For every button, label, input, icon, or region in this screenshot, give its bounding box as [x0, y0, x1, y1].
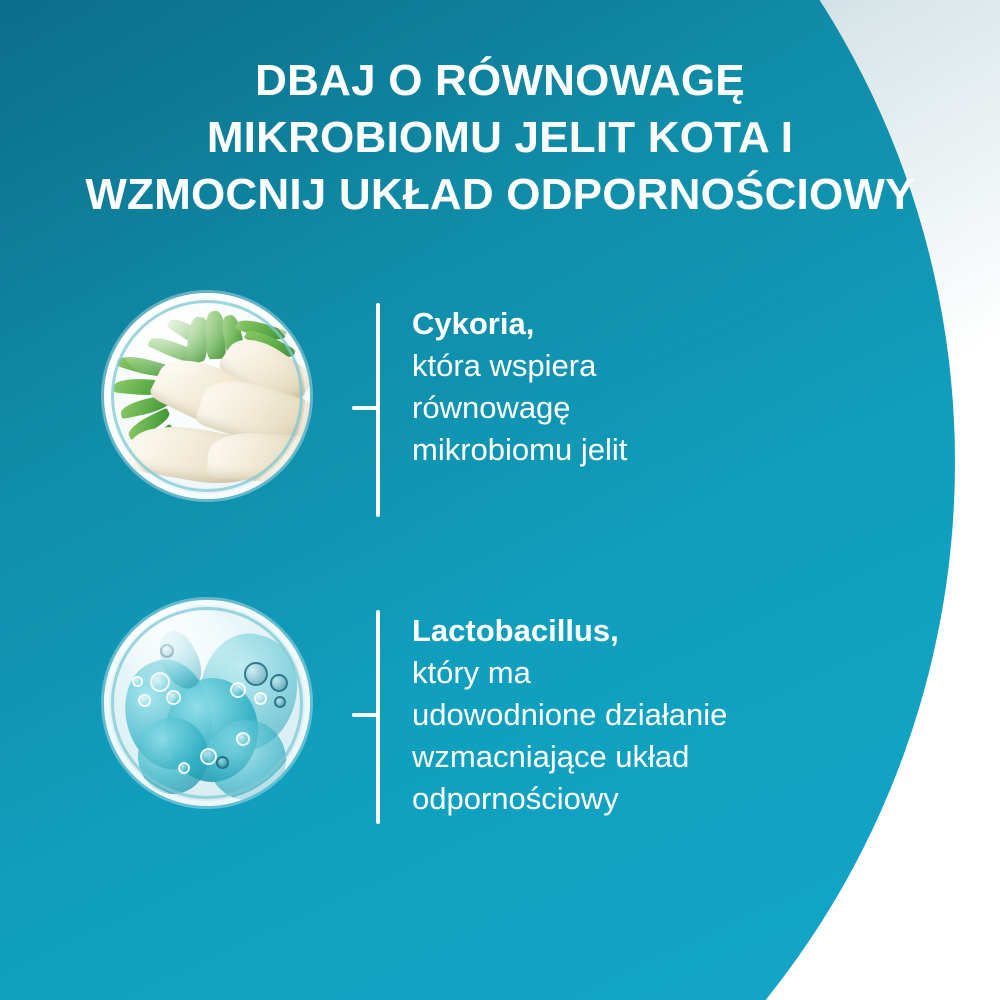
chicory-root-petri-dish-image [104, 293, 310, 499]
headline-line-1: DBAJ O RÓWNOWAGĘ [0, 52, 1000, 109]
connector-line [352, 293, 380, 518]
connector-vertical-line [376, 610, 380, 824]
connector-tick-mark [352, 406, 378, 410]
headline-line-3: WZMOCNIJ UKŁAD ODPORNOŚCIOWY [0, 166, 1000, 223]
feature-item-lactobacillus: Lactobacillus, który ma udowodnione dzia… [0, 600, 1000, 830]
feature-body-line-3: wzmacniające układ [412, 736, 882, 778]
gel-illustration [104, 600, 310, 806]
page-title: DBAJ O RÓWNOWAGĘ MIKROBIOMU JELIT KOTA I… [0, 52, 1000, 223]
product-benefits-poster: DBAJ O RÓWNOWAGĘ MIKROBIOMU JELIT KOTA I… [0, 0, 1000, 1000]
headline-line-2: MIKROBIOMU JELIT KOTA I [0, 109, 1000, 166]
feature-text-lactobacillus: Lactobacillus, który ma udowodnione dzia… [412, 610, 882, 820]
connector-line [352, 600, 380, 825]
feature-body-line-2: równowagę [412, 387, 882, 429]
feature-body-line-2: udowodnione działanie [412, 694, 882, 736]
connector-vertical-line [376, 303, 380, 517]
connector-tick-mark [352, 713, 378, 717]
feature-body-line-1: który ma [412, 652, 882, 694]
chicory-illustration [104, 293, 310, 499]
feature-item-cykoria: Cykoria, która wspiera równowagę mikrobi… [0, 293, 1000, 523]
feature-body-line-3: mikrobiomu jelit [412, 429, 882, 471]
feature-body-line-1: która wspiera [412, 345, 882, 387]
feature-title: Lactobacillus, [412, 610, 882, 652]
feature-title: Cykoria, [412, 303, 882, 345]
lactobacillus-gel-petri-dish-image [104, 600, 310, 806]
feature-text-cykoria: Cykoria, która wspiera równowagę mikrobi… [412, 303, 882, 471]
feature-body-line-4: odpornościowy [412, 778, 882, 820]
